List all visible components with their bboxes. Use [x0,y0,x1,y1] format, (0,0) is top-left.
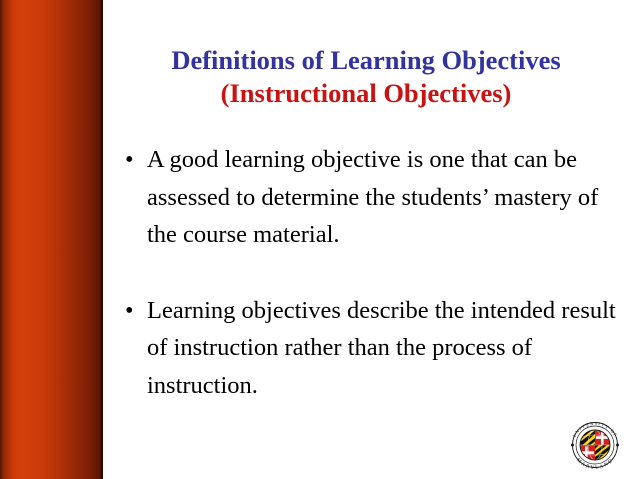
presentation-slide: Definitions of Learning Objectives (Inst… [0,0,638,479]
title-line-secondary: (Instructional Objectives) [110,77,622,110]
list-item: • Learning objectives describe the inten… [110,292,626,405]
slide-title: Definitions of Learning Objectives (Inst… [110,44,622,110]
list-item: • A good learning objective is one that … [110,141,626,254]
slide-body: • A good learning objective is one that … [110,141,626,404]
bullet-icon: • [125,292,134,330]
bullet-icon: • [125,141,134,179]
list-item-text: A good learning objective is one that ca… [147,141,626,254]
list-item-text: Learning objectives describe the intende… [147,292,626,405]
left-gradient-bar [0,0,103,479]
university-of-maryland-seal-icon: UNIVERSITY OF MARYLAND [563,413,627,477]
title-line-primary: Definitions of Learning Objectives [110,44,622,77]
left-gradient-bar-edge [101,0,103,479]
